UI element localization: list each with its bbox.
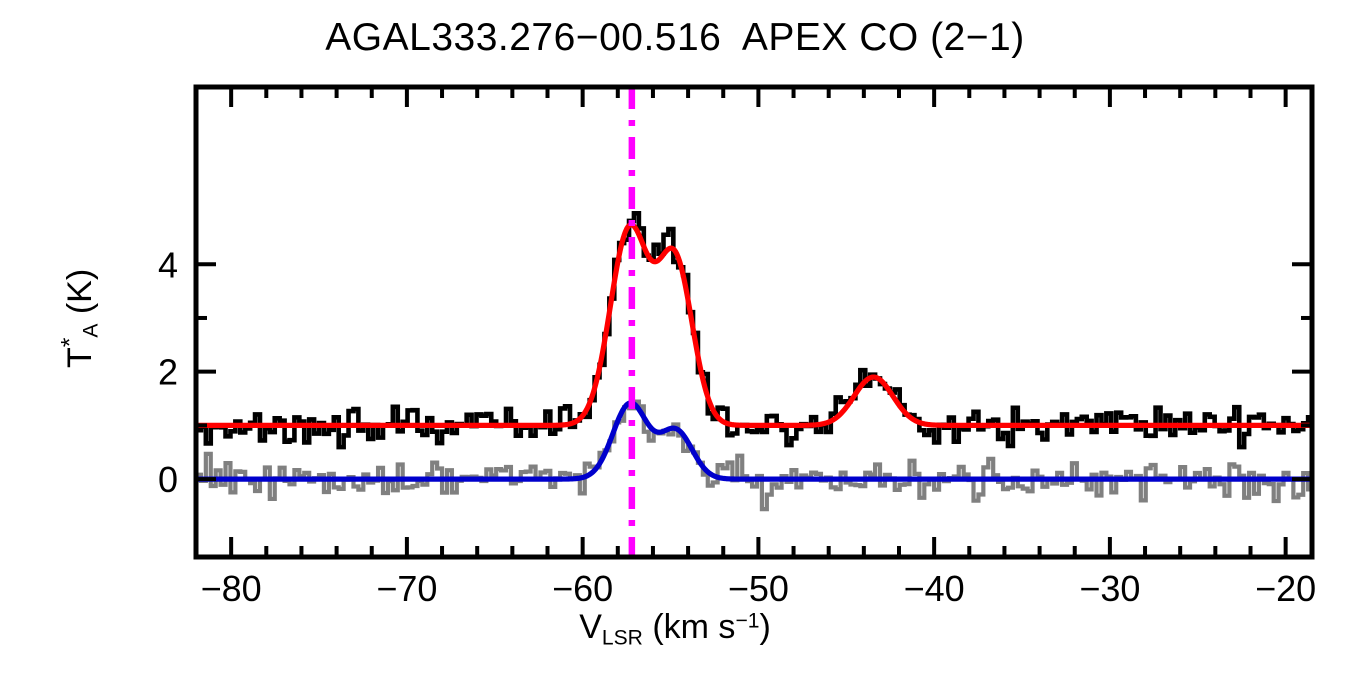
x-axis-tick-label: −30 xyxy=(1079,568,1140,609)
x-axis-tick-label: −50 xyxy=(728,568,789,609)
x-axis-tick-label: −40 xyxy=(904,568,965,609)
x-axis-title: VLSR (km s−1) xyxy=(0,608,1350,650)
y-axis-title-unit: (K) xyxy=(61,269,99,324)
x-axis-tick-label: −80 xyxy=(201,568,262,609)
x-axis-tick-label: −20 xyxy=(1255,568,1316,609)
y-axis-title-star: * xyxy=(57,338,84,348)
x-axis-title-unit-open: (km s xyxy=(643,608,736,646)
plot-data-group xyxy=(196,213,1313,509)
y-axis-title: T*A (K) xyxy=(57,198,104,438)
y-axis-tick-label: 4 xyxy=(158,244,178,285)
x-axis-tick-label: −60 xyxy=(552,568,613,609)
y-axis-title-sub: A xyxy=(79,324,102,338)
y-axis-title-main: T xyxy=(61,347,99,368)
y-axis-tick-label: 2 xyxy=(158,352,178,393)
gray-spectrum-trace xyxy=(196,402,1313,509)
x-axis-title-unit-exponent: −1 xyxy=(735,609,759,632)
figure-canvas: AGAL333.276−00.516 APEX CO (2−1) −80−70−… xyxy=(0,0,1350,675)
x-axis-title-sub: LSR xyxy=(602,626,643,649)
black-spectrum-trace xyxy=(196,213,1313,447)
x-axis-tick-label: −70 xyxy=(376,568,437,609)
y-axis-tick-label: 0 xyxy=(158,459,178,500)
x-axis-title-main: V xyxy=(579,608,602,646)
red-fit-curve xyxy=(196,225,1312,426)
spectrum-plot: −80−70−60−50−40−30−20024 xyxy=(0,0,1350,675)
x-axis-title-unit-close: ) xyxy=(759,608,770,646)
